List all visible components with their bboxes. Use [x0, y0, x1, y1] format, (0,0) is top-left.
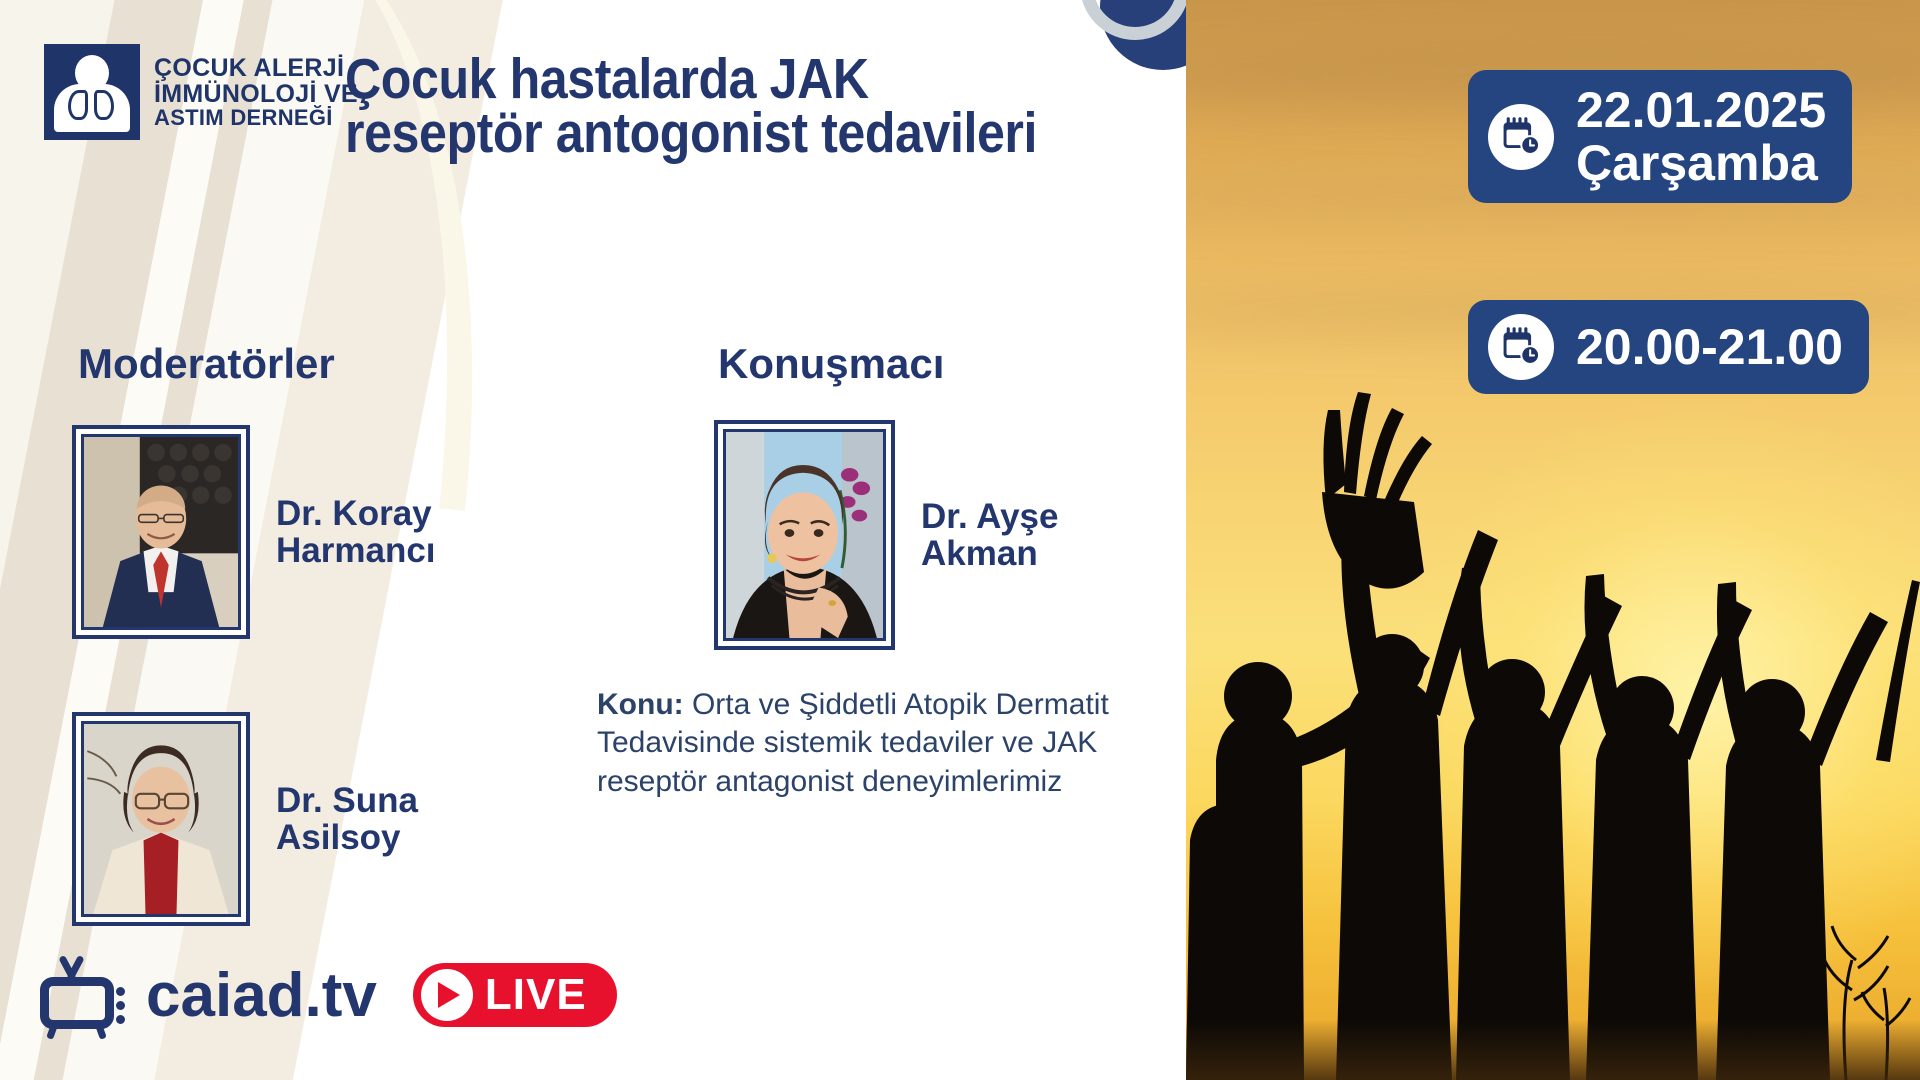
organization-logo: ÇOCUK ALERJİ İMMÜNOLOJİ VE ASTIM DERNEĞİ	[44, 44, 358, 140]
organization-name: ÇOCUK ALERJİ İMMÜNOLOJİ VE ASTIM DERNEĞİ	[154, 55, 358, 130]
logo-body-shape	[54, 84, 130, 132]
photo-frame	[714, 420, 895, 650]
org-line-2: İMMÜNOLOJİ VE	[154, 81, 358, 107]
footer-branding: caiad.tv LIVE	[40, 955, 617, 1035]
calendar-clock-icon	[1488, 104, 1554, 170]
lungs-patient-icon	[44, 44, 140, 140]
photo-frame-inner	[81, 434, 241, 630]
org-line-3: ASTIM DERNEĞİ	[154, 107, 358, 130]
portrait-ayse-akman	[726, 432, 883, 638]
speaker-name: Dr. Ayşe Akman	[921, 498, 1059, 573]
date-badge: 22.01.2025 Çarşamba	[1468, 70, 1852, 203]
play-triangle	[438, 982, 460, 1008]
photo-frame	[72, 425, 250, 639]
calendar-clock-glyph	[1499, 325, 1543, 369]
moderator-card: Dr. Suna Asilsoy	[72, 712, 418, 926]
logo-lung-left	[68, 90, 88, 120]
decorative-circles	[1080, 0, 1186, 104]
tv-knob	[116, 1001, 125, 1010]
topic-label: Konu:	[597, 688, 684, 721]
tv-screen	[40, 977, 114, 1029]
tv-knob	[116, 987, 125, 996]
moderator-name: Dr. Suna Asilsoy	[276, 782, 418, 857]
topic-description: Konu: Orta ve Şiddetli Atopik Dermatit T…	[597, 686, 1197, 801]
television-icon	[40, 955, 132, 1035]
photo-frame-inner	[81, 721, 241, 917]
portrait-koray-harmanci	[84, 437, 238, 627]
date-text: 22.01.2025 Çarşamba	[1576, 84, 1826, 189]
live-badge[interactable]: LIVE	[413, 963, 617, 1027]
ground-shadow	[1186, 1020, 1920, 1080]
org-line-1: ÇOCUK ALERJİ	[154, 55, 358, 81]
moderator-card: Dr. Koray Harmancı	[72, 425, 436, 639]
logo-lung-right	[94, 90, 114, 120]
speaker-card: Dr. Ayşe Akman	[714, 420, 1059, 650]
play-icon[interactable]	[421, 969, 473, 1021]
page-title: Çocuk hastalarda JAK reseptör antogonist…	[345, 52, 1058, 160]
time-text: 20.00-21.00	[1576, 321, 1843, 374]
calendar-clock-glyph	[1499, 115, 1543, 159]
tv-knob	[116, 1015, 125, 1024]
moderator-name: Dr. Koray Harmancı	[276, 495, 436, 570]
calendar-clock-icon	[1488, 314, 1554, 380]
time-badge: 20.00-21.00	[1468, 300, 1869, 394]
site-name[interactable]: caiad.tv	[146, 960, 377, 1031]
moderators-heading: Moderatörler	[78, 340, 335, 388]
live-label: LIVE	[485, 970, 587, 1020]
webinar-poster: ÇOCUK ALERJİ İMMÜNOLOJİ VE ASTIM DERNEĞİ…	[0, 0, 1920, 1080]
speaker-heading: Konuşmacı	[718, 340, 944, 388]
photo-frame	[72, 712, 250, 926]
portrait-suna-asilsoy	[84, 724, 238, 914]
photo-frame-inner	[723, 429, 886, 641]
